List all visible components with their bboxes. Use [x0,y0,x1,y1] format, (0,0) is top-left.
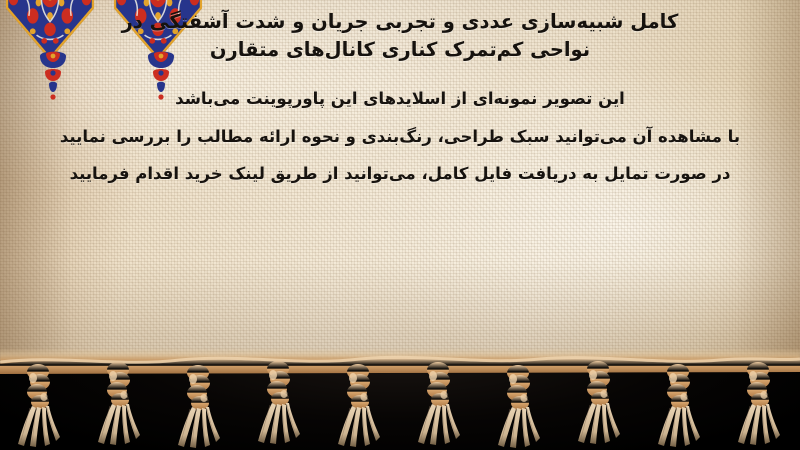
body-line-3: در صورت تمایل به دریافت فایل کامل، می‌تو… [30,166,770,204]
body-line-1: این تصویر نمونه‌ای از اسلایدهای این پاور… [30,91,770,129]
slide-headline: کامل شبیه‌سازی عددی و تجربی جریان و شدت … [30,8,770,63]
slide-body-text: این تصویر نمونه‌ای از اسلایدهای این پاور… [30,91,770,204]
slide-text-block: کامل شبیه‌سازی عددی و تجربی جریان و شدت … [0,0,800,204]
body-line-2: با مشاهده آن می‌توانید سبک طراحی، رنگ‌بن… [30,129,770,167]
headline-line-1: کامل شبیه‌سازی عددی و تجربی جریان و شدت … [30,8,770,36]
headline-line-2: نواحی کم‌تمرک کناری کانال‌های متقارن [30,36,770,64]
carpet-fringe-tassels [0,352,800,450]
slide-canvas: کامل شبیه‌سازی عددی و تجربی جریان و شدت … [0,0,800,450]
